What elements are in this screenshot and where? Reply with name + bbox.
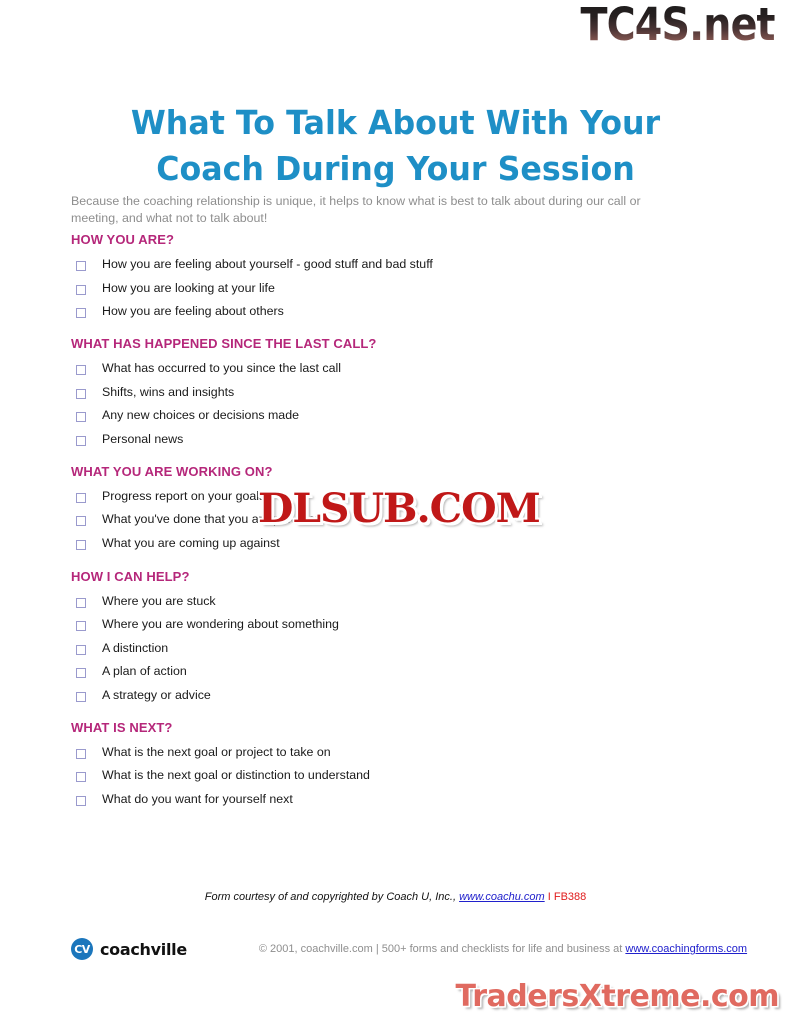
list-item[interactable]: What has occurred to you since the last … [71,361,721,376]
list-item-label: A distinction [102,641,168,656]
list-item-label: What is the next goal or project to take… [102,745,331,760]
list-item[interactable]: Any new choices or decisions made [71,408,721,423]
checkbox-icon[interactable] [76,749,86,759]
footer-bar: CV coachville © 2001, coachville.com | 5… [71,938,721,960]
section-heading: HOW I CAN HELP? [71,569,721,584]
list-item[interactable]: How you are feeling about others [71,304,721,319]
page-title: What To Talk About With Your Coach Durin… [0,100,791,192]
list-item[interactable]: How you are looking at your life [71,281,721,296]
list-item-label: How you are looking at your life [102,281,275,296]
checkbox-icon[interactable] [76,668,86,678]
list-item[interactable]: Where you are wondering about something [71,617,721,632]
watermark-dlsub: DLSUB.COM [258,487,540,531]
list-item-label: Where you are wondering about something [102,617,339,632]
checklist-items: What is the next goal or project to take… [71,745,721,807]
watermark-tradersxtreme: TradersXtreme.com [456,979,779,1015]
checkbox-icon[interactable] [76,598,86,608]
checkbox-icon[interactable] [76,621,86,631]
coachingforms-link[interactable]: www.coachingforms.com [625,943,747,955]
checkbox-icon[interactable] [76,389,86,399]
checkbox-icon[interactable] [76,796,86,806]
list-item-label: Shifts, wins and insights [102,385,234,400]
list-item[interactable]: A plan of action [71,664,721,679]
footer-note-text: © 2001, coachville.com | 500+ forms and … [259,943,626,955]
checklist-items: What has occurred to you since the last … [71,361,721,447]
list-item-label: What do you want for yourself next [102,792,293,807]
section-what-is-next: WHAT IS NEXT? What is the next goal or p… [71,720,721,807]
form-code: I FB388 [548,891,587,903]
section-heading: HOW YOU ARE? [71,232,721,247]
checklist-items: How you are feeling about yourself - goo… [71,257,721,319]
checkbox-icon[interactable] [76,285,86,295]
coachu-link[interactable]: www.coachu.com [459,891,545,903]
form-credit-line: Form courtesy of and copyrighted by Coac… [0,890,791,904]
checkbox-icon[interactable] [76,493,86,503]
list-item-label: A plan of action [102,664,187,679]
checkbox-icon[interactable] [76,308,86,318]
checkbox-icon[interactable] [76,540,86,550]
list-item[interactable]: What you are coming up against [71,536,721,551]
checkbox-icon[interactable] [76,261,86,271]
cv-badge-icon: CV [71,938,93,960]
page-title-line-1: What To Talk About With Your [16,100,775,146]
section-heading: WHAT IS NEXT? [71,720,721,735]
checklist-items: Where you are stuck Where you are wonder… [71,594,721,703]
section-heading: WHAT HAS HAPPENED SINCE THE LAST CALL? [71,336,721,351]
checkbox-icon[interactable] [76,365,86,375]
intro-paragraph: Because the coaching relationship is uni… [71,193,681,227]
checkbox-icon[interactable] [76,412,86,422]
page-title-line-2: Coach During Your Session [16,146,775,192]
list-item-label: A strategy or advice [102,688,211,703]
section-heading: WHAT YOU ARE WORKING ON? [71,464,721,479]
list-item-label: What is the next goal or distinction to … [102,768,370,783]
list-item-label: How you are feeling about yourself - goo… [102,257,433,272]
list-item[interactable]: What is the next goal or project to take… [71,745,721,760]
coachville-wordmark: coachville [100,940,187,959]
list-item-label: How you are feeling about others [102,304,284,319]
list-item[interactable]: How you are feeling about yourself - goo… [71,257,721,272]
list-item[interactable]: Where you are stuck [71,594,721,609]
list-item-label: Personal news [102,432,183,447]
list-item-label: What has occurred to you since the last … [102,361,341,376]
list-item-label: Progress report on your goals [102,489,265,504]
checkbox-icon[interactable] [76,436,86,446]
coachville-logo[interactable]: CV coachville [71,938,187,960]
checkbox-icon[interactable] [76,772,86,782]
list-item-label: Any new choices or decisions made [102,408,299,423]
checkbox-icon[interactable] [76,645,86,655]
list-item[interactable]: What is the next goal or distinction to … [71,768,721,783]
list-item[interactable]: Personal news [71,432,721,447]
section-how-i-can-help: HOW I CAN HELP? Where you are stuck Wher… [71,569,721,703]
list-item-label: Where you are stuck [102,594,216,609]
list-item[interactable]: A strategy or advice [71,688,721,703]
list-item-label: What you are coming up against [102,536,280,551]
checkbox-icon[interactable] [76,692,86,702]
credit-text: Form courtesy of and copyrighted by Coac… [205,891,456,903]
list-item[interactable]: A distinction [71,641,721,656]
list-item[interactable]: Shifts, wins and insights [71,385,721,400]
section-what-has-happened: WHAT HAS HAPPENED SINCE THE LAST CALL? W… [71,336,721,447]
checkbox-icon[interactable] [76,516,86,526]
list-item[interactable]: What do you want for yourself next [71,792,721,807]
footer-note: © 2001, coachville.com | 500+ forms and … [259,942,747,956]
watermark-tc4s: TC4S.net [581,0,775,52]
section-how-you-are: HOW YOU ARE? How you are feeling about y… [71,232,721,319]
